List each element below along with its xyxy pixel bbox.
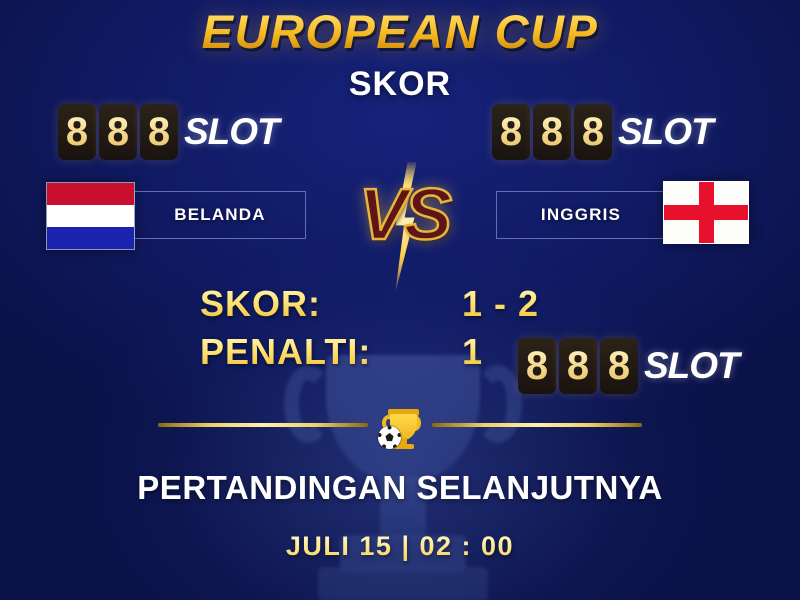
penalty-row: PENALTI: 1 [200,331,483,373]
watermark-brand-text: SLOT [618,111,713,153]
watermark-digit-tile: 8 [533,104,571,160]
watermark-digit-tile: 8 [559,338,597,394]
page-subtitle: SKOR [0,65,800,104]
next-match-label: PERTANDINGAN SELANJUTNYA [0,469,800,507]
versus-badge: VS [345,168,463,288]
home-team-name: BELANDA [134,191,306,239]
england-flag-icon [663,181,749,244]
watermark-digit-tile: 8 [574,104,612,160]
watermark-digit: 8 [107,112,129,152]
watermark-digit: 8 [582,112,604,152]
penalty-value: 1 [462,331,483,373]
watermark-digit: 8 [526,346,548,386]
watermark-digit: 8 [567,346,589,386]
watermark-888slot-mid-right: 8 8 8 SLOT [518,338,739,394]
trophy-soccerball-icon [372,408,428,452]
scoreboard-graphic: EUROPEAN CUP SKOR 8 8 8 SLOT 8 8 8 SLOT … [0,0,800,600]
watermark-digit-tile: 8 [99,104,137,160]
score-value: 1 - 2 [462,283,539,325]
watermark-888slot-top-right: 8 8 8 SLOT [492,104,713,160]
watermark-888slot-top-left: 8 8 8 SLOT [58,104,279,160]
score-label: SKOR: [200,283,462,325]
watermark-digit-tile: 8 [140,104,178,160]
divider-line-right [432,423,642,427]
score-row: SKOR: 1 - 2 [200,283,539,325]
watermark-digit: 8 [148,112,170,152]
watermark-digit-tile: 8 [600,338,638,394]
watermark-digit: 8 [66,112,88,152]
next-match-time: JULI 15 | 02 : 00 [0,531,800,562]
penalty-label: PENALTI: [200,331,462,373]
watermark-brand-text: SLOT [184,111,279,153]
watermark-digit-tile: 8 [58,104,96,160]
watermark-digit-tile: 8 [518,338,556,394]
divider [0,410,800,450]
netherlands-flag-icon [46,182,135,250]
watermark-digit: 8 [541,112,563,152]
divider-line-left [158,423,368,427]
watermark-brand-text: SLOT [644,345,739,387]
watermark-digit: 8 [500,112,522,152]
watermark-digit-tile: 8 [492,104,530,160]
watermark-digit: 8 [608,346,630,386]
page-title: EUROPEAN CUP [0,4,800,59]
versus-label: VS [345,174,463,256]
away-team-name: INGGRIS [496,191,666,239]
